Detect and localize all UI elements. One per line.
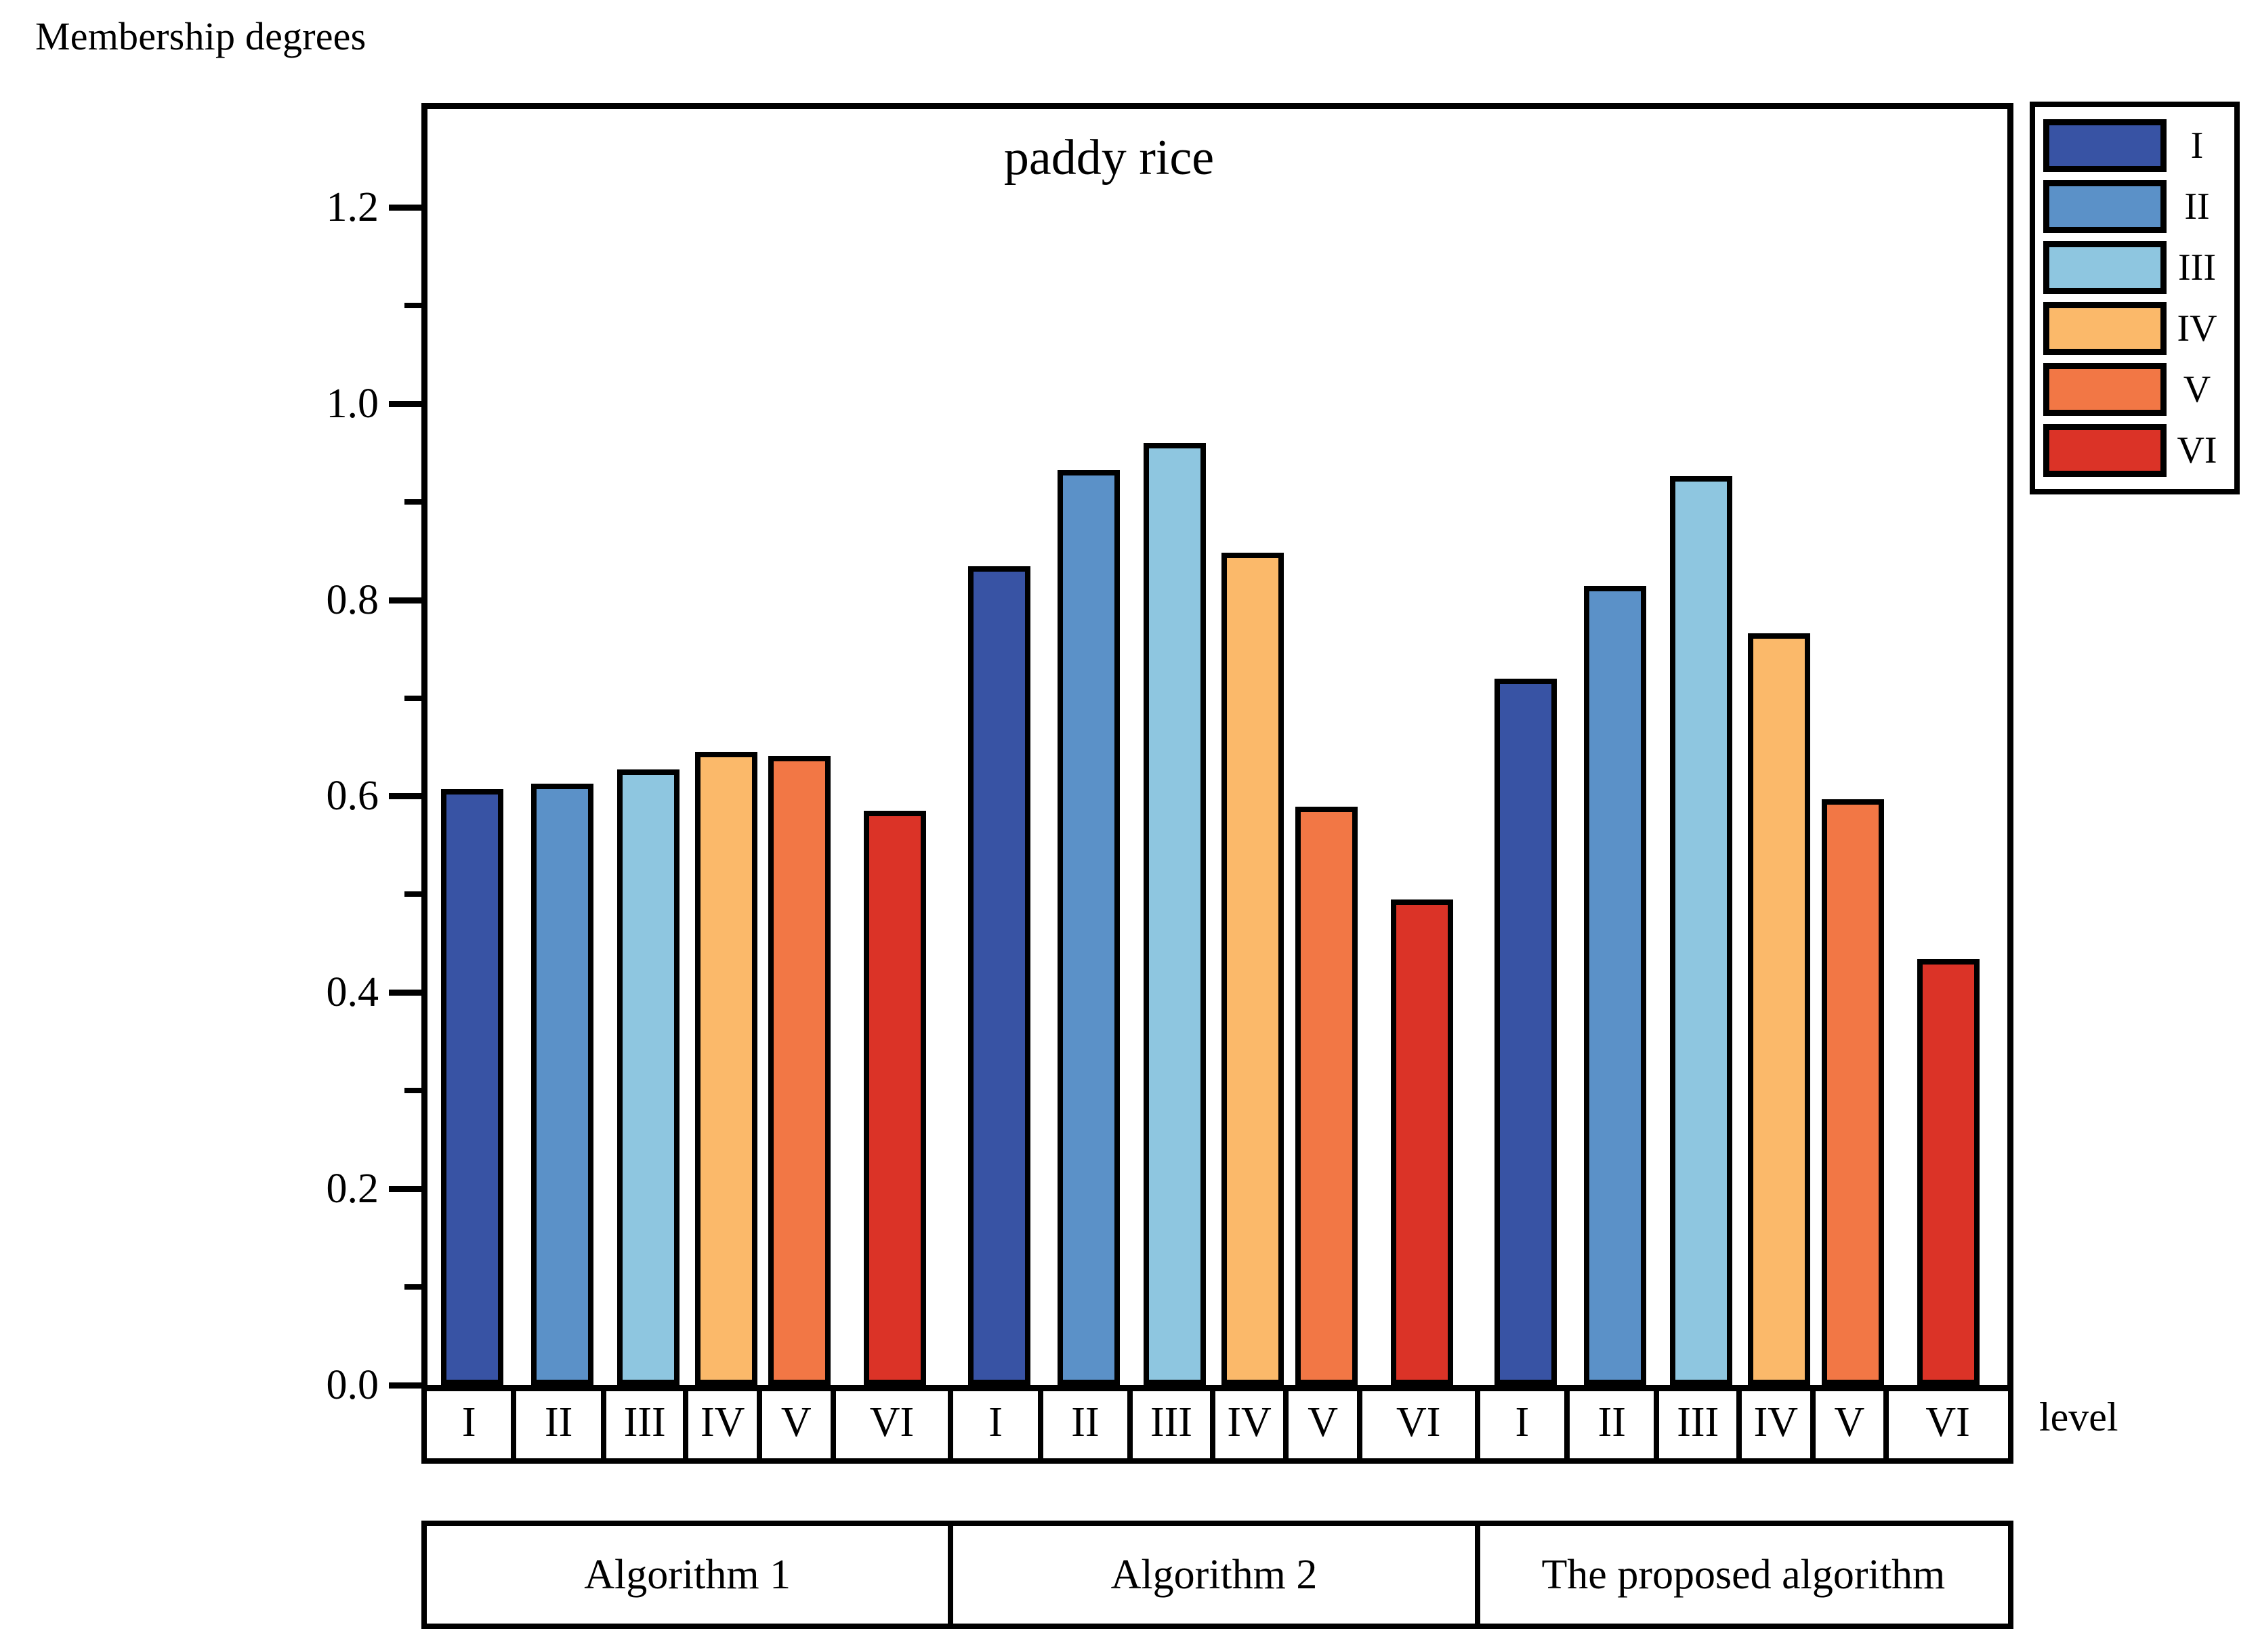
level-cell-vi: VI	[1362, 1386, 1480, 1458]
x-axis-caption: level	[2039, 1397, 2118, 1437]
bar	[441, 789, 503, 1385]
level-cell-v: V	[1289, 1386, 1362, 1458]
level-cell-i: I	[427, 1386, 516, 1458]
legend-swatch-v	[2043, 363, 2167, 416]
bar	[617, 769, 680, 1385]
y-tick-minor	[404, 1088, 427, 1093]
chart-title-text: paddy rice	[1004, 130, 1214, 186]
group-cell: Algorithm 2	[953, 1526, 1480, 1624]
level-cell-iv: IV	[1742, 1386, 1816, 1458]
legend-swatch-iv	[2043, 302, 2167, 355]
y-tick-label: 0.8	[327, 579, 379, 621]
y-tick-label: 0.4	[327, 971, 379, 1013]
legend: IIIIIIIVVVI	[2030, 102, 2240, 494]
y-tick-major	[389, 1186, 427, 1192]
level-cell-iii: III	[1659, 1386, 1742, 1458]
bar	[1221, 553, 1284, 1385]
bar	[1822, 799, 1884, 1385]
legend-swatch-i	[2043, 119, 2167, 172]
level-cell-i: I	[1480, 1386, 1570, 1458]
bar	[1748, 633, 1810, 1385]
y-tick-minor	[404, 696, 427, 701]
level-cell-ii: II	[1570, 1386, 1659, 1458]
bar	[1058, 470, 1120, 1385]
y-tick-major	[389, 990, 427, 996]
legend-item[interactable]: V	[2043, 359, 2228, 420]
y-tick-label: 1.2	[327, 186, 379, 228]
legend-item[interactable]: II	[2043, 176, 2228, 237]
legend-label: I	[2167, 127, 2228, 165]
legend-item[interactable]: VI	[2043, 420, 2228, 481]
y-tick-major	[389, 401, 427, 407]
y-tick-major	[389, 205, 427, 211]
legend-label: VI	[2167, 431, 2228, 469]
level-cell-i: I	[953, 1386, 1043, 1458]
legend-label: V	[2167, 370, 2228, 408]
chart-title: paddy rice	[427, 129, 2007, 187]
bar	[531, 784, 593, 1385]
level-cell-iii: III	[606, 1386, 689, 1458]
y-tick-minor	[404, 499, 427, 505]
level-cell-ii: II	[1043, 1386, 1133, 1458]
legend-swatch-iii	[2043, 241, 2167, 294]
level-cell-vi: VI	[836, 1386, 954, 1458]
y-tick-minor	[404, 303, 427, 308]
y-tick-label: 0.2	[327, 1168, 379, 1210]
y-tick-label: 0.6	[327, 775, 379, 817]
plot-inner: paddy rice 1.21.00.80.60.40.20.0	[427, 109, 2007, 1385]
legend-item[interactable]: III	[2043, 237, 2228, 298]
bar	[1917, 959, 1980, 1385]
bar	[1391, 899, 1453, 1385]
plot-area: paddy rice 1.21.00.80.60.40.20.0	[421, 103, 2013, 1391]
level-cell-iv: IV	[1215, 1386, 1289, 1458]
bar	[1494, 679, 1557, 1385]
bar	[1144, 443, 1206, 1385]
y-tick-major	[389, 793, 427, 799]
level-cell-vi: VI	[1889, 1386, 2007, 1458]
level-axis-row: IIIIIIIVVVIIIIIIIIVVVIIIIIIIIVVVI	[421, 1386, 2013, 1464]
bar	[1670, 476, 1732, 1385]
legend-swatch-ii	[2043, 180, 2167, 233]
y-tick-label: 0.0	[327, 1364, 379, 1406]
legend-item[interactable]: I	[2043, 115, 2228, 176]
y-tick-major	[389, 597, 427, 603]
y-tick-minor	[404, 891, 427, 897]
level-cell-v: V	[762, 1386, 836, 1458]
bar	[695, 752, 757, 1385]
group-cell: Algorithm 1	[427, 1526, 953, 1624]
legend-label: III	[2167, 249, 2228, 287]
legend-item[interactable]: IV	[2043, 298, 2228, 359]
y-tick-minor	[404, 1284, 427, 1290]
legend-swatch-vi	[2043, 424, 2167, 477]
level-cell-iii: III	[1133, 1386, 1215, 1458]
legend-label: II	[2167, 188, 2228, 226]
legend-label: IV	[2167, 310, 2228, 347]
group-axis-row: Algorithm 1Algorithm 2The proposed algor…	[421, 1521, 2013, 1629]
level-cell-ii: II	[516, 1386, 606, 1458]
bar	[968, 566, 1030, 1385]
y-tick-label: 1.0	[327, 383, 379, 425]
level-cell-v: V	[1816, 1386, 1889, 1458]
bar	[1584, 586, 1646, 1385]
y-axis-title: Membership degrees	[35, 14, 366, 59]
level-cell-iv: IV	[688, 1386, 762, 1458]
group-cell: The proposed algorithm	[1480, 1526, 2007, 1624]
bar	[1295, 807, 1358, 1385]
bar	[768, 756, 831, 1385]
bar	[864, 811, 926, 1385]
